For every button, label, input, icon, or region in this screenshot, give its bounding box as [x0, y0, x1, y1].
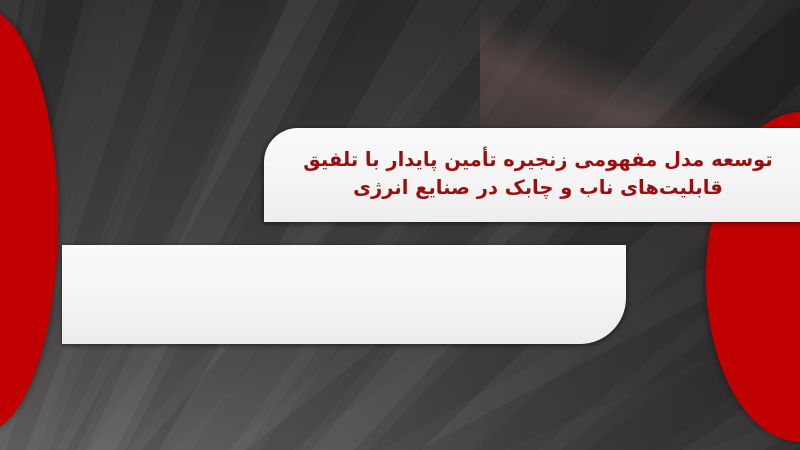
slide-background: [0, 0, 800, 450]
subtitle-placeholder[interactable]: [62, 245, 626, 344]
slide-subtitle: [62, 245, 626, 265]
slide-title: توسعه مدل مفهومی زنجیره تأمین پایدار با …: [273, 146, 790, 203]
title-placeholder[interactable]: توسعه مدل مفهومی زنجیره تأمین پایدار با …: [264, 128, 800, 222]
presentation-slide: توسعه مدل مفهومی زنجیره تأمین پایدار با …: [0, 0, 800, 450]
